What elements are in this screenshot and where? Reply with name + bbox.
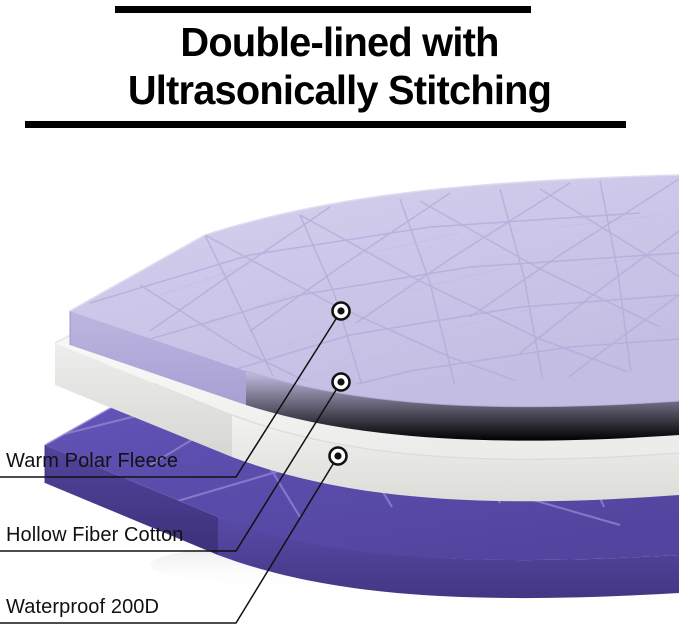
page-title: Double-lined with Ultrasonically Stitchi… (10, 18, 669, 114)
callout-label-waterproof-200d: Waterproof 200D (6, 596, 159, 619)
product-layer-illustration (0, 135, 679, 628)
callout-label-hollow-fiber-cotton: Hollow Fiber Cotton (6, 524, 184, 547)
callout-label-warm-polar-fleece: Warm Polar Fleece (6, 450, 178, 473)
page-title-line-2: Ultrasonically Stitching (10, 66, 669, 114)
title-rule-bottom (25, 121, 626, 128)
page-title-line-1: Double-lined with (10, 18, 669, 66)
title-rule-top (115, 6, 531, 13)
infographic-canvas: Double-lined with Ultrasonically Stitchi… (0, 0, 679, 628)
